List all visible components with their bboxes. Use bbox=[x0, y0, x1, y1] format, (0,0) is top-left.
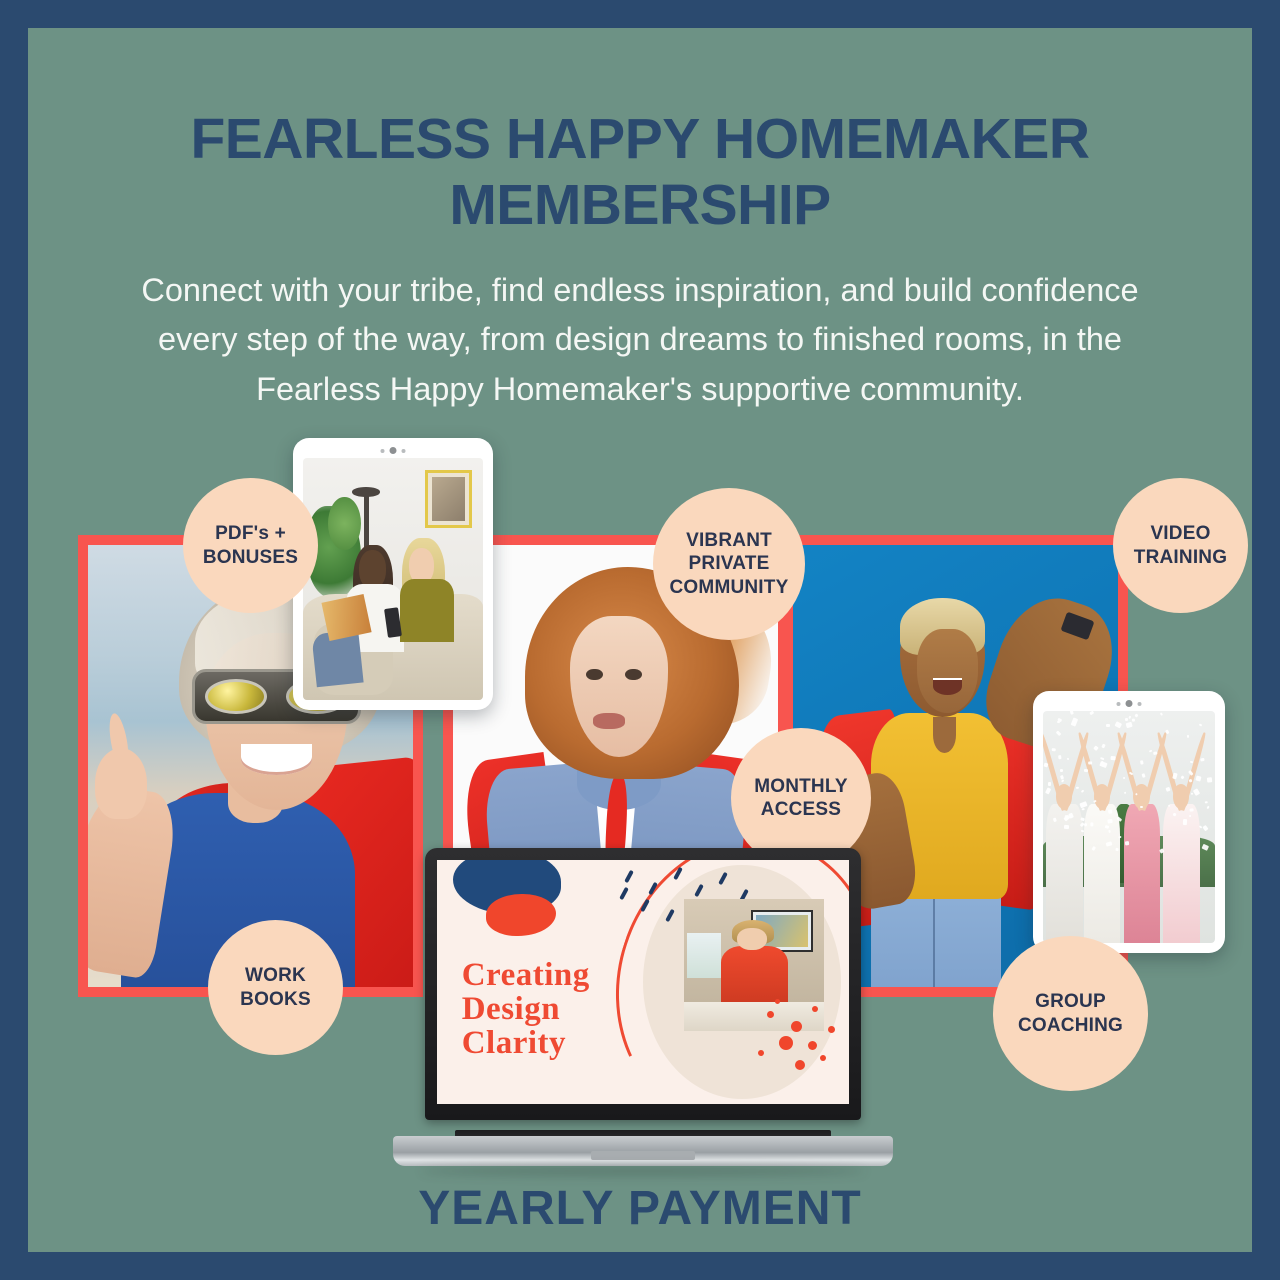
tablet-device-couple bbox=[293, 438, 493, 710]
badge-pdfs-bonuses[interactable]: PDF's +BONUSES bbox=[183, 478, 318, 613]
tablet-camera-icon bbox=[381, 447, 406, 454]
poster-frame: FEARLESS HAPPY HOMEMAKER MEMBERSHIP Conn… bbox=[0, 0, 1280, 1280]
badge-vibrant-private-community[interactable]: VIBRANTPRIVATECOMMUNITY bbox=[653, 488, 805, 640]
badge-group-coaching[interactable]: GROUPCOACHING bbox=[993, 936, 1148, 1091]
course-host-photo bbox=[684, 899, 824, 1031]
laptop-shadow bbox=[421, 1166, 865, 1176]
laptop-title-line-1: Creating bbox=[462, 958, 643, 992]
laptop-screen-title: Creating Design Clarity bbox=[462, 958, 643, 1061]
payment-label: YEARLY PAYMENT bbox=[28, 1181, 1252, 1236]
tablet-screen-couple bbox=[303, 458, 483, 700]
laptop-title-line-2: Design bbox=[462, 992, 643, 1026]
tablet-device-celebration bbox=[1033, 691, 1225, 953]
poster-canvas: FEARLESS HAPPY HOMEMAKER MEMBERSHIP Conn… bbox=[28, 28, 1252, 1252]
tablet-screen-celebration bbox=[1043, 711, 1215, 943]
laptop-title-line-3: Clarity bbox=[462, 1026, 643, 1060]
badge-video-training[interactable]: VIDEOTRAINING bbox=[1113, 478, 1248, 613]
badge-work-books[interactable]: WORKBOOKS bbox=[208, 920, 343, 1055]
tablet-camera-icon bbox=[1117, 700, 1142, 707]
laptop-device: Creating Design Clarity bbox=[393, 848, 893, 1188]
laptop-screen: Creating Design Clarity bbox=[437, 860, 849, 1104]
laptop-lid: Creating Design Clarity bbox=[425, 848, 861, 1120]
laptop-trackpad bbox=[591, 1151, 695, 1160]
badge-monthly-access[interactable]: MONTHLYACCESS bbox=[731, 728, 871, 868]
page-title: FEARLESS HAPPY HOMEMAKER MEMBERSHIP bbox=[88, 106, 1192, 238]
page-subtitle: Connect with your tribe, find endless in… bbox=[118, 266, 1162, 414]
